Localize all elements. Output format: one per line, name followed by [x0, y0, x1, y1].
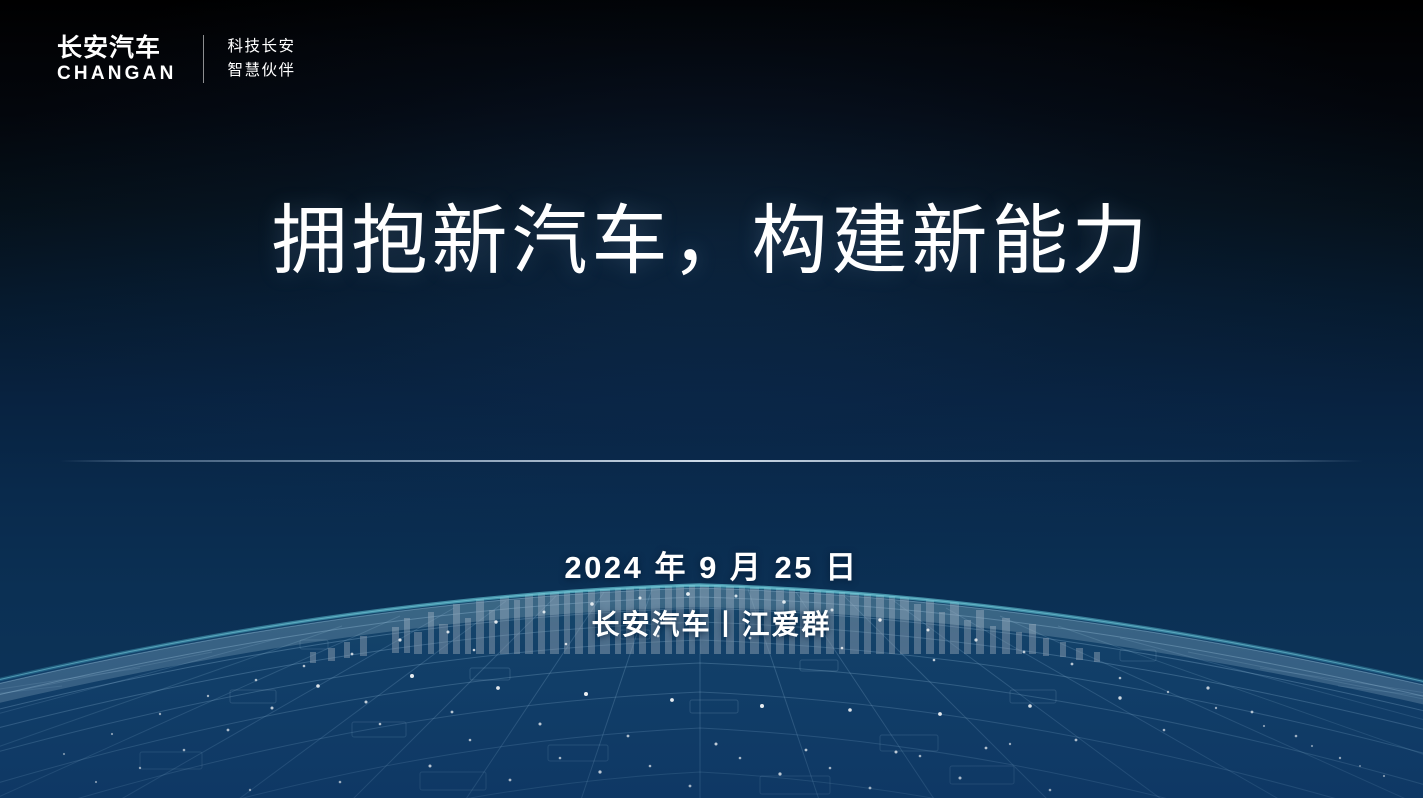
slide-title: 拥抱新汽车，构建新能力 — [0, 196, 1423, 289]
logo-tagline: 科技长安 智慧伙伴 — [228, 35, 296, 83]
circuit-traces — [140, 630, 1156, 794]
background-glow — [0, 0, 1423, 589]
logo-brand-cn: 长安汽车 — [57, 36, 177, 61]
slide-author: 长安汽车丨江爱群 — [0, 607, 1423, 643]
logo-mark: 长安汽车 CHANGAN — [57, 36, 177, 83]
digital-globe-graphic — [0, 0, 1423, 798]
slide-date: 2024 年 9 月 25 日 — [0, 548, 1423, 588]
brand-logo[interactable]: 长安汽车 CHANGAN 科技长安 智慧伙伴 — [57, 31, 296, 87]
globe-svg — [0, 0, 1423, 798]
logo-divider — [203, 35, 204, 83]
presentation-slide: 长安汽车 CHANGAN 科技长安 智慧伙伴 拥抱新汽车，构建新能力 2024 … — [0, 0, 1423, 798]
slide-meta: 2024 年 9 月 25 日 长安汽车丨江爱群 — [0, 548, 1423, 644]
title-divider — [60, 460, 1363, 462]
tagline-line-1: 科技长安 — [228, 35, 296, 59]
tagline-line-2: 智慧伙伴 — [228, 59, 296, 83]
logo-brand-en: CHANGAN — [57, 64, 177, 83]
globe-surface — [0, 492, 1423, 798]
